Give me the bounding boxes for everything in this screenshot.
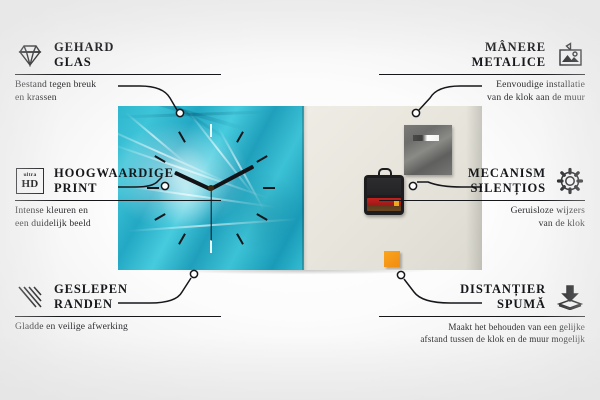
feature-divider (379, 74, 585, 75)
feature-description: Eenvoudige installatie van de klok aan d… (379, 79, 585, 104)
feature-high-quality-print: ultra HD HOOGWAARDIGE PRINT Intense kleu… (15, 166, 221, 230)
feature-foam-spacer: DISTANȚIER SPUMĂ Maakt het behouden van … (379, 282, 585, 345)
gear-icon (555, 166, 585, 196)
panel-joint-shadow (302, 106, 308, 270)
feature-title: DISTANȚIER SPUMĂ (460, 282, 546, 313)
feature-tempered-glass: GEHARD GLAS Bestand tegen breuk en krass… (15, 40, 221, 104)
diagonal-stripes-icon (15, 282, 45, 312)
ultra-hd-icon: ultra HD (15, 166, 45, 196)
picture-frame-icon (555, 40, 585, 70)
feature-metal-handles: MÂNERE METALICE Eenvoudige installatie v… (379, 40, 585, 104)
feature-description: Gladde en veilige afwerking (15, 321, 221, 334)
feature-silent-mechanism: MECANISM SILENȚIOS Geruisloze wijzers va… (379, 166, 585, 230)
feature-title: GESLEPEN RANDEN (54, 282, 128, 313)
infographic-stage: GEHARD GLAS Bestand tegen breuk en krass… (0, 0, 600, 400)
feature-divider (15, 74, 221, 75)
feature-divider (379, 200, 585, 201)
stacked-down-arrow-icon (555, 282, 585, 312)
feature-ground-edges: GESLEPEN RANDEN Gladde en veilige afwerk… (15, 282, 221, 334)
feature-divider (15, 200, 221, 201)
feature-title: HOOGWAARDIGE PRINT (54, 166, 174, 197)
feature-title: GEHARD GLAS (54, 40, 114, 71)
foam-spacer-block (384, 251, 400, 267)
feature-divider (379, 316, 585, 317)
feature-description: Intense kleuren en een duidelijk beeld (15, 205, 221, 230)
diamond-icon (15, 40, 45, 70)
feature-description: Bestand tegen breuk en krassen (15, 79, 221, 104)
feature-description: Maakt het behouden van een gelijke afsta… (379, 321, 585, 345)
hanger-slot (413, 135, 439, 141)
feature-title: MÂNERE METALICE (472, 40, 546, 71)
feature-title: MECANISM SILENȚIOS (468, 166, 546, 197)
feature-divider (15, 316, 221, 317)
feature-description: Geruisloze wijzers van de klok (379, 205, 585, 230)
